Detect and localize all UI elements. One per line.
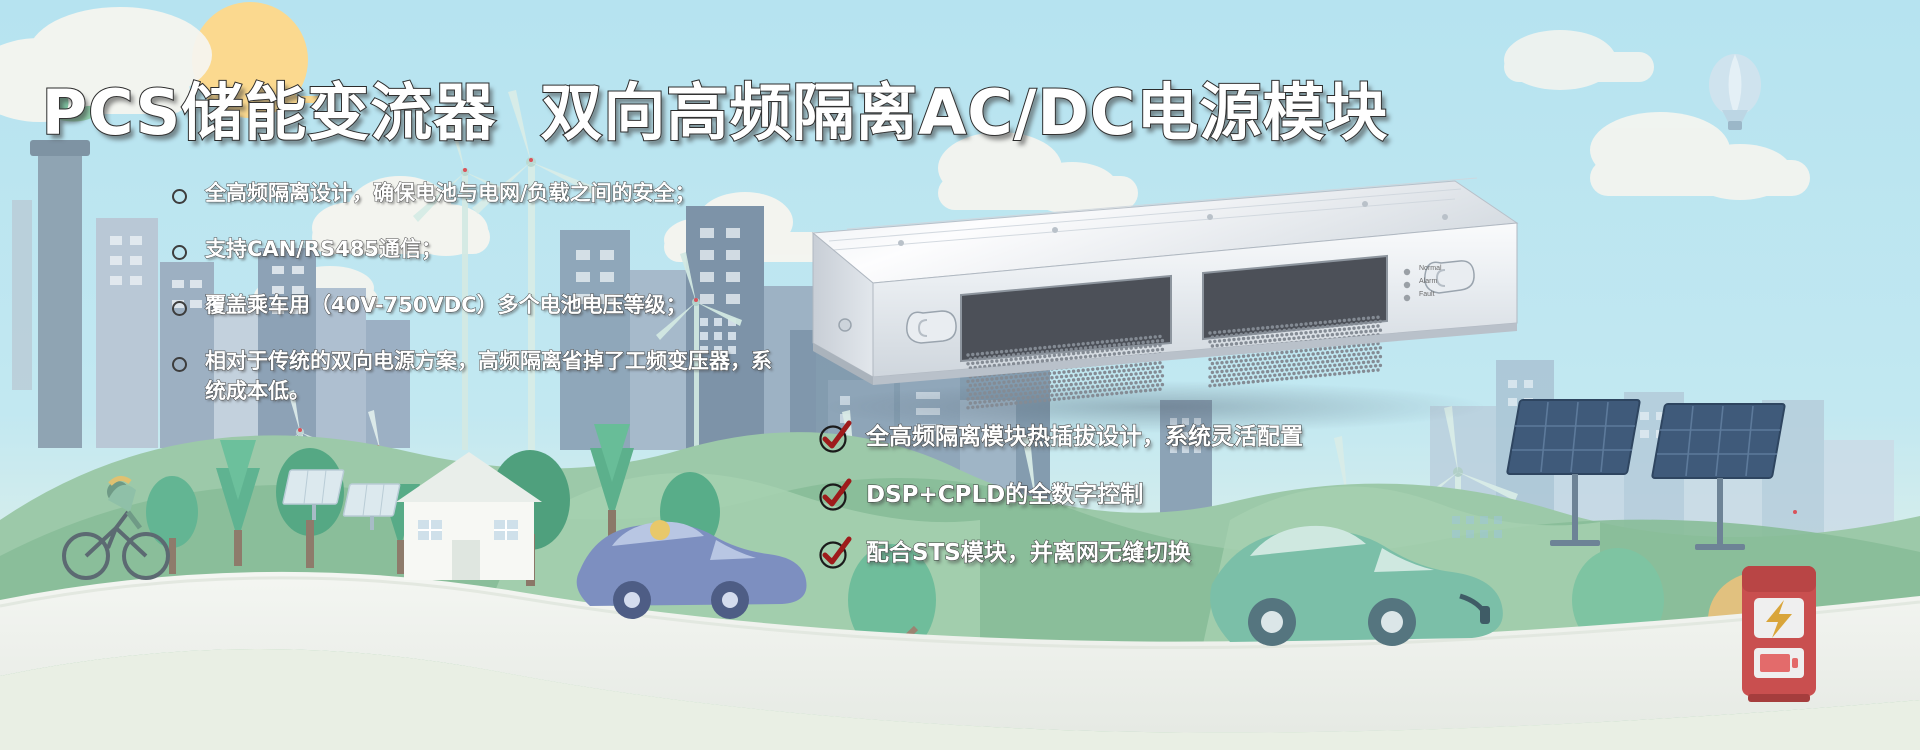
highlight-item-label: DSP+CPLD的全数字控制 — [866, 479, 1143, 511]
ev-charging-station — [1742, 566, 1816, 702]
bullet-dot-icon — [172, 301, 187, 316]
led-label-alarm: Alarm — [1419, 278, 1437, 285]
bullet-dot-icon — [172, 189, 187, 204]
feature-item-label: 相对于传统的双向电源方案，高频隔离省掉了工频变压器，系统成本低。 — [205, 346, 792, 406]
bullet-dot-icon — [172, 245, 187, 260]
feature-item: 支持CAN/RS485通信； — [172, 234, 932, 264]
feature-item-label: 覆盖乘车用（40V-750VDC）多个电池电压等级； — [205, 290, 687, 320]
highlight-item-label: 全高频隔离模块热插拔设计，系统灵活配置 — [866, 421, 1303, 453]
banner-canvas: Normal Alarm Fault PCS储能变流器双向高频隔离AC/DC电源… — [0, 0, 1920, 750]
check-icon — [818, 536, 852, 570]
led-label-fault: Fault — [1419, 291, 1435, 298]
feature-item: 相对于传统的双向电源方案，高频隔离省掉了工频变压器，系统成本低。 — [172, 346, 792, 406]
feature-item: 覆盖乘车用（40V-750VDC）多个电池电压等级； — [172, 290, 932, 320]
highlight-list: 全高频隔离模块热插拔设计，系统灵活配置 DSP+CPLD的全数字控制 配合STS… — [818, 420, 1698, 594]
highlight-item: DSP+CPLD的全数字控制 — [818, 478, 1698, 512]
feature-item: 全高频隔离设计，确保电池与电网/负载之间的安全； — [172, 178, 932, 208]
feature-list: 全高频隔离设计，确保电池与电网/负载之间的安全； 支持CAN/RS485通信； … — [172, 178, 932, 432]
highlight-item: 全高频隔离模块热插拔设计，系统灵活配置 — [818, 420, 1698, 454]
highlight-item: 配合STS模块，并离网无缝切换 — [818, 536, 1698, 570]
led-label-normal: Normal — [1419, 265, 1442, 272]
highlight-item-label: 配合STS模块，并离网无缝切换 — [866, 537, 1191, 569]
page-title: PCS储能变流器双向高频隔离AC/DC电源模块 — [0, 62, 1430, 152]
check-icon — [818, 420, 852, 454]
check-icon — [818, 478, 852, 512]
page-title-part1: PCS储能变流器 — [42, 76, 497, 149]
feature-item-label: 支持CAN/RS485通信； — [205, 234, 442, 264]
device-vent-right — [1203, 256, 1387, 388]
page-title-part2: 双向高频隔离AC/DC电源模块 — [540, 76, 1388, 149]
bullet-dot-icon — [172, 357, 187, 372]
device-status-leds — [1404, 269, 1410, 301]
feature-item-label: 全高频隔离设计，确保电池与电网/负载之间的安全； — [205, 178, 696, 208]
